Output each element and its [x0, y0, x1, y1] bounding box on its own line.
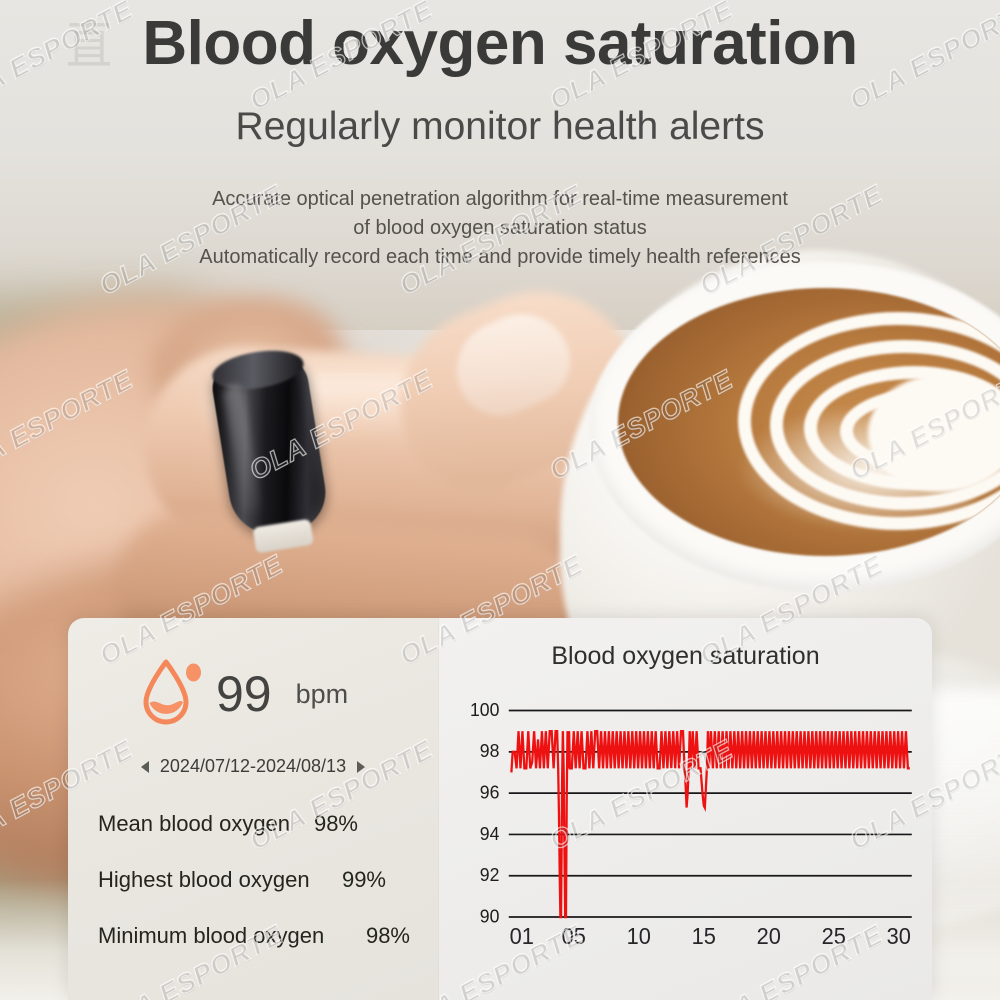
description-line-3: Automatically record each time and provi…: [0, 243, 1000, 272]
stat-label-minimum: Minimum blood oxygen: [98, 923, 324, 949]
blood-drop-icon: [140, 658, 202, 730]
chart-x-tick-label: 20: [757, 924, 781, 950]
latte-art: [618, 288, 1000, 556]
app-screenshot-cards: 99 bpm 2024/07/12-2024/08/13 Mean blood …: [68, 618, 932, 1000]
chart-y-tick-label: 96: [480, 782, 500, 802]
stat-value-minimum: 98%: [366, 923, 418, 949]
stat-label-mean: Mean blood oxygen: [98, 811, 290, 837]
chart-series-spo2: [511, 731, 909, 917]
spo2-chart-card: Blood oxygen saturation 1009896949290010…: [438, 618, 932, 1000]
chart-y-tick-label: 92: [480, 865, 500, 885]
chart-y-tick-label: 94: [480, 824, 500, 844]
page-subtitle: Regularly monitor health alerts: [0, 105, 1000, 149]
chart-x-tick-label: 10: [627, 924, 651, 950]
page-title: Blood oxygen saturation: [0, 12, 1000, 75]
chart-x-tick-label: 30: [887, 924, 911, 950]
spo2-stats-list: Mean blood oxygen 98% Highest blood oxyg…: [68, 811, 438, 949]
date-range-label: 2024/07/12-2024/08/13: [160, 756, 346, 777]
stat-label-highest: Highest blood oxygen: [98, 867, 310, 893]
stat-value-mean: 98%: [314, 811, 418, 837]
stat-row-mean: Mean blood oxygen 98%: [98, 811, 418, 837]
chart-x-tick-label: 15: [692, 924, 716, 950]
stat-value-highest: 99%: [342, 867, 418, 893]
next-period-arrow-icon[interactable]: [357, 761, 365, 773]
description-line-2: of blood oxygen saturation status: [0, 214, 1000, 243]
spo2-unit: bpm: [296, 679, 349, 710]
spo2-value-row: 99 bpm: [68, 618, 438, 730]
chart-plot-area: 100989694929001051015202530: [461, 704, 918, 954]
chart-y-tick-label: 100: [470, 700, 499, 720]
chart-x-tick-label: 05: [562, 924, 586, 950]
stat-row-highest: Highest blood oxygen 99%: [98, 867, 418, 893]
date-range-selector[interactable]: 2024/07/12-2024/08/13: [68, 756, 438, 777]
spo2-summary-card: 99 bpm 2024/07/12-2024/08/13 Mean blood …: [68, 618, 438, 1000]
stat-row-minimum: Minimum blood oxygen 98%: [98, 923, 418, 949]
chart-title: Blood oxygen saturation: [439, 618, 932, 671]
header: Blood oxygen saturation Regularly monito…: [0, 0, 1000, 272]
chart-x-tick-label: 25: [822, 924, 846, 950]
page-description: Accurate optical penetration algorithm f…: [0, 185, 1000, 272]
chart-y-tick-label: 98: [480, 741, 500, 761]
spo2-line-chart: 100989694929001051015202530: [461, 704, 918, 954]
chart-x-tick-label: 01: [510, 924, 534, 950]
prev-period-arrow-icon[interactable]: [141, 761, 149, 773]
description-line-1: Accurate optical penetration algorithm f…: [0, 185, 1000, 214]
chart-y-tick-label: 90: [480, 906, 500, 926]
spo2-value: 99: [216, 669, 272, 719]
